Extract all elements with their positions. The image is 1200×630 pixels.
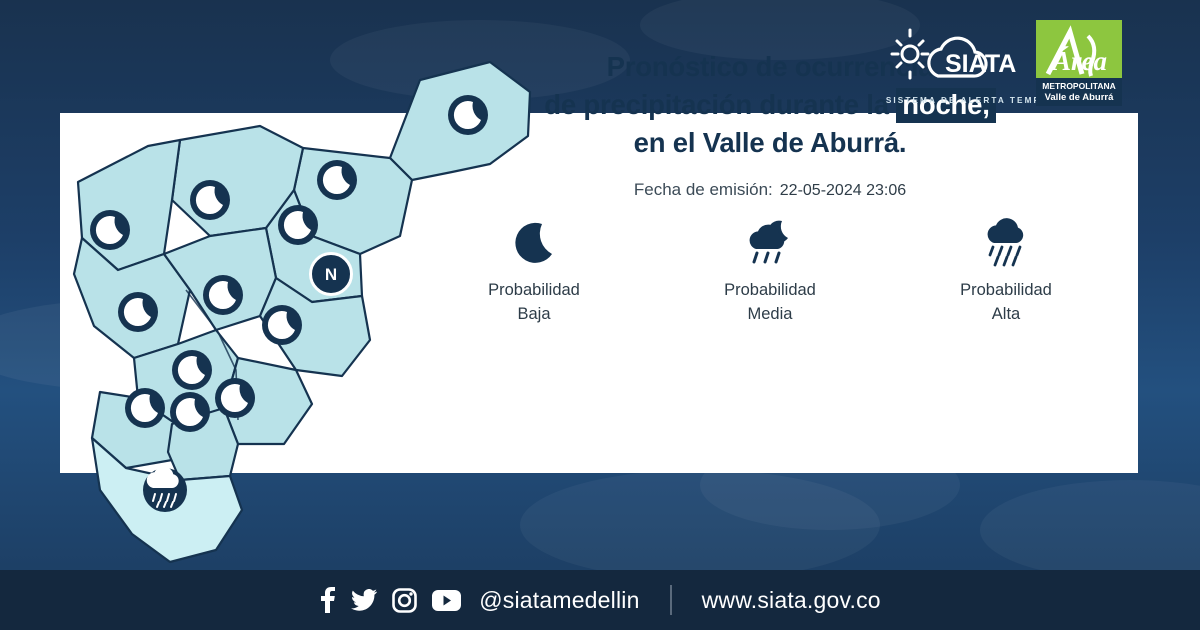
- footer-divider: [670, 585, 672, 615]
- siata-wordmark: SIATA: [945, 50, 1016, 78]
- headline-line-2-text: de precipitación durante la: [544, 89, 896, 120]
- youtube-icon[interactable]: [432, 590, 461, 611]
- marker-bello: [118, 292, 158, 332]
- marker-bello-north: [90, 210, 130, 250]
- website-link[interactable]: www.siata.gov.co: [702, 587, 881, 614]
- moon-icon: [470, 215, 598, 271]
- marker-copacabana: [278, 205, 318, 245]
- area-wordmark: Área: [1051, 46, 1107, 76]
- legend-label-alta: Probabilidad Alta: [942, 279, 1070, 327]
- legend-label-line1: Probabilidad: [470, 279, 598, 303]
- social-handle[interactable]: @siatamedellin: [479, 587, 639, 614]
- probability-legend: Probabilidad Baja Probabilidad Media: [470, 215, 1070, 327]
- legend-label-line2: Baja: [470, 303, 598, 327]
- facebook-icon[interactable]: [319, 587, 336, 613]
- marker-medellin: [172, 350, 212, 390]
- twitter-icon[interactable]: [351, 589, 377, 611]
- social-icons: [319, 587, 461, 613]
- marker-itagui: [125, 388, 165, 428]
- cloud-heavy-rain-icon: [942, 215, 1070, 271]
- legend-item-baja: Probabilidad Baja: [470, 215, 598, 327]
- marker-medellin-north: [203, 275, 243, 315]
- compass-label: N: [325, 266, 337, 283]
- headline-line-3: en el Valle de Aburrá.: [470, 124, 1070, 162]
- marker-girardota: [317, 160, 357, 200]
- legend-item-alta: Probabilidad Alta: [942, 215, 1070, 327]
- emission-date: Fecha de emisión: 22-05-2024 23:06: [470, 180, 1070, 200]
- legend-label-line1: Probabilidad: [706, 279, 834, 303]
- legend-label-baja: Probabilidad Baja: [470, 279, 598, 327]
- compass-north-indicator: N: [309, 252, 353, 296]
- area-sub-metropolitana: METROPOLITANA: [1042, 81, 1116, 91]
- instagram-icon[interactable]: [392, 588, 417, 613]
- emission-label: Fecha de emisión:: [634, 180, 773, 200]
- marker-san-pedro: [190, 180, 230, 220]
- legend-label-line1: Probabilidad: [942, 279, 1070, 303]
- logo-group: SIATA SISTEMA DE ALERTA TEMPRANA Área ME…: [888, 20, 1122, 106]
- siata-logo: SIATA SISTEMA DE ALERTA TEMPRANA: [888, 20, 1028, 103]
- cloud-moon-rain-icon: [706, 215, 834, 271]
- marker-guarne: [262, 305, 302, 345]
- marker-envigado: [170, 392, 210, 432]
- legend-label-media: Probabilidad Media: [706, 279, 834, 327]
- area-sub-valle: Valle de Aburrá: [1045, 92, 1115, 103]
- legend-label-line2: Media: [706, 303, 834, 327]
- area-metropolitana-logo: Área METROPOLITANA Valle de Aburrá: [1036, 20, 1122, 106]
- marker-sabaneta: [215, 378, 255, 418]
- emission-value: 22-05-2024 23:06: [780, 182, 906, 200]
- legend-label-line2: Alta: [942, 303, 1070, 327]
- cloud-shape: [980, 480, 1200, 580]
- footer-bar: @siatamedellin www.siata.gov.co: [0, 570, 1200, 630]
- legend-item-media: Probabilidad Media: [706, 215, 834, 327]
